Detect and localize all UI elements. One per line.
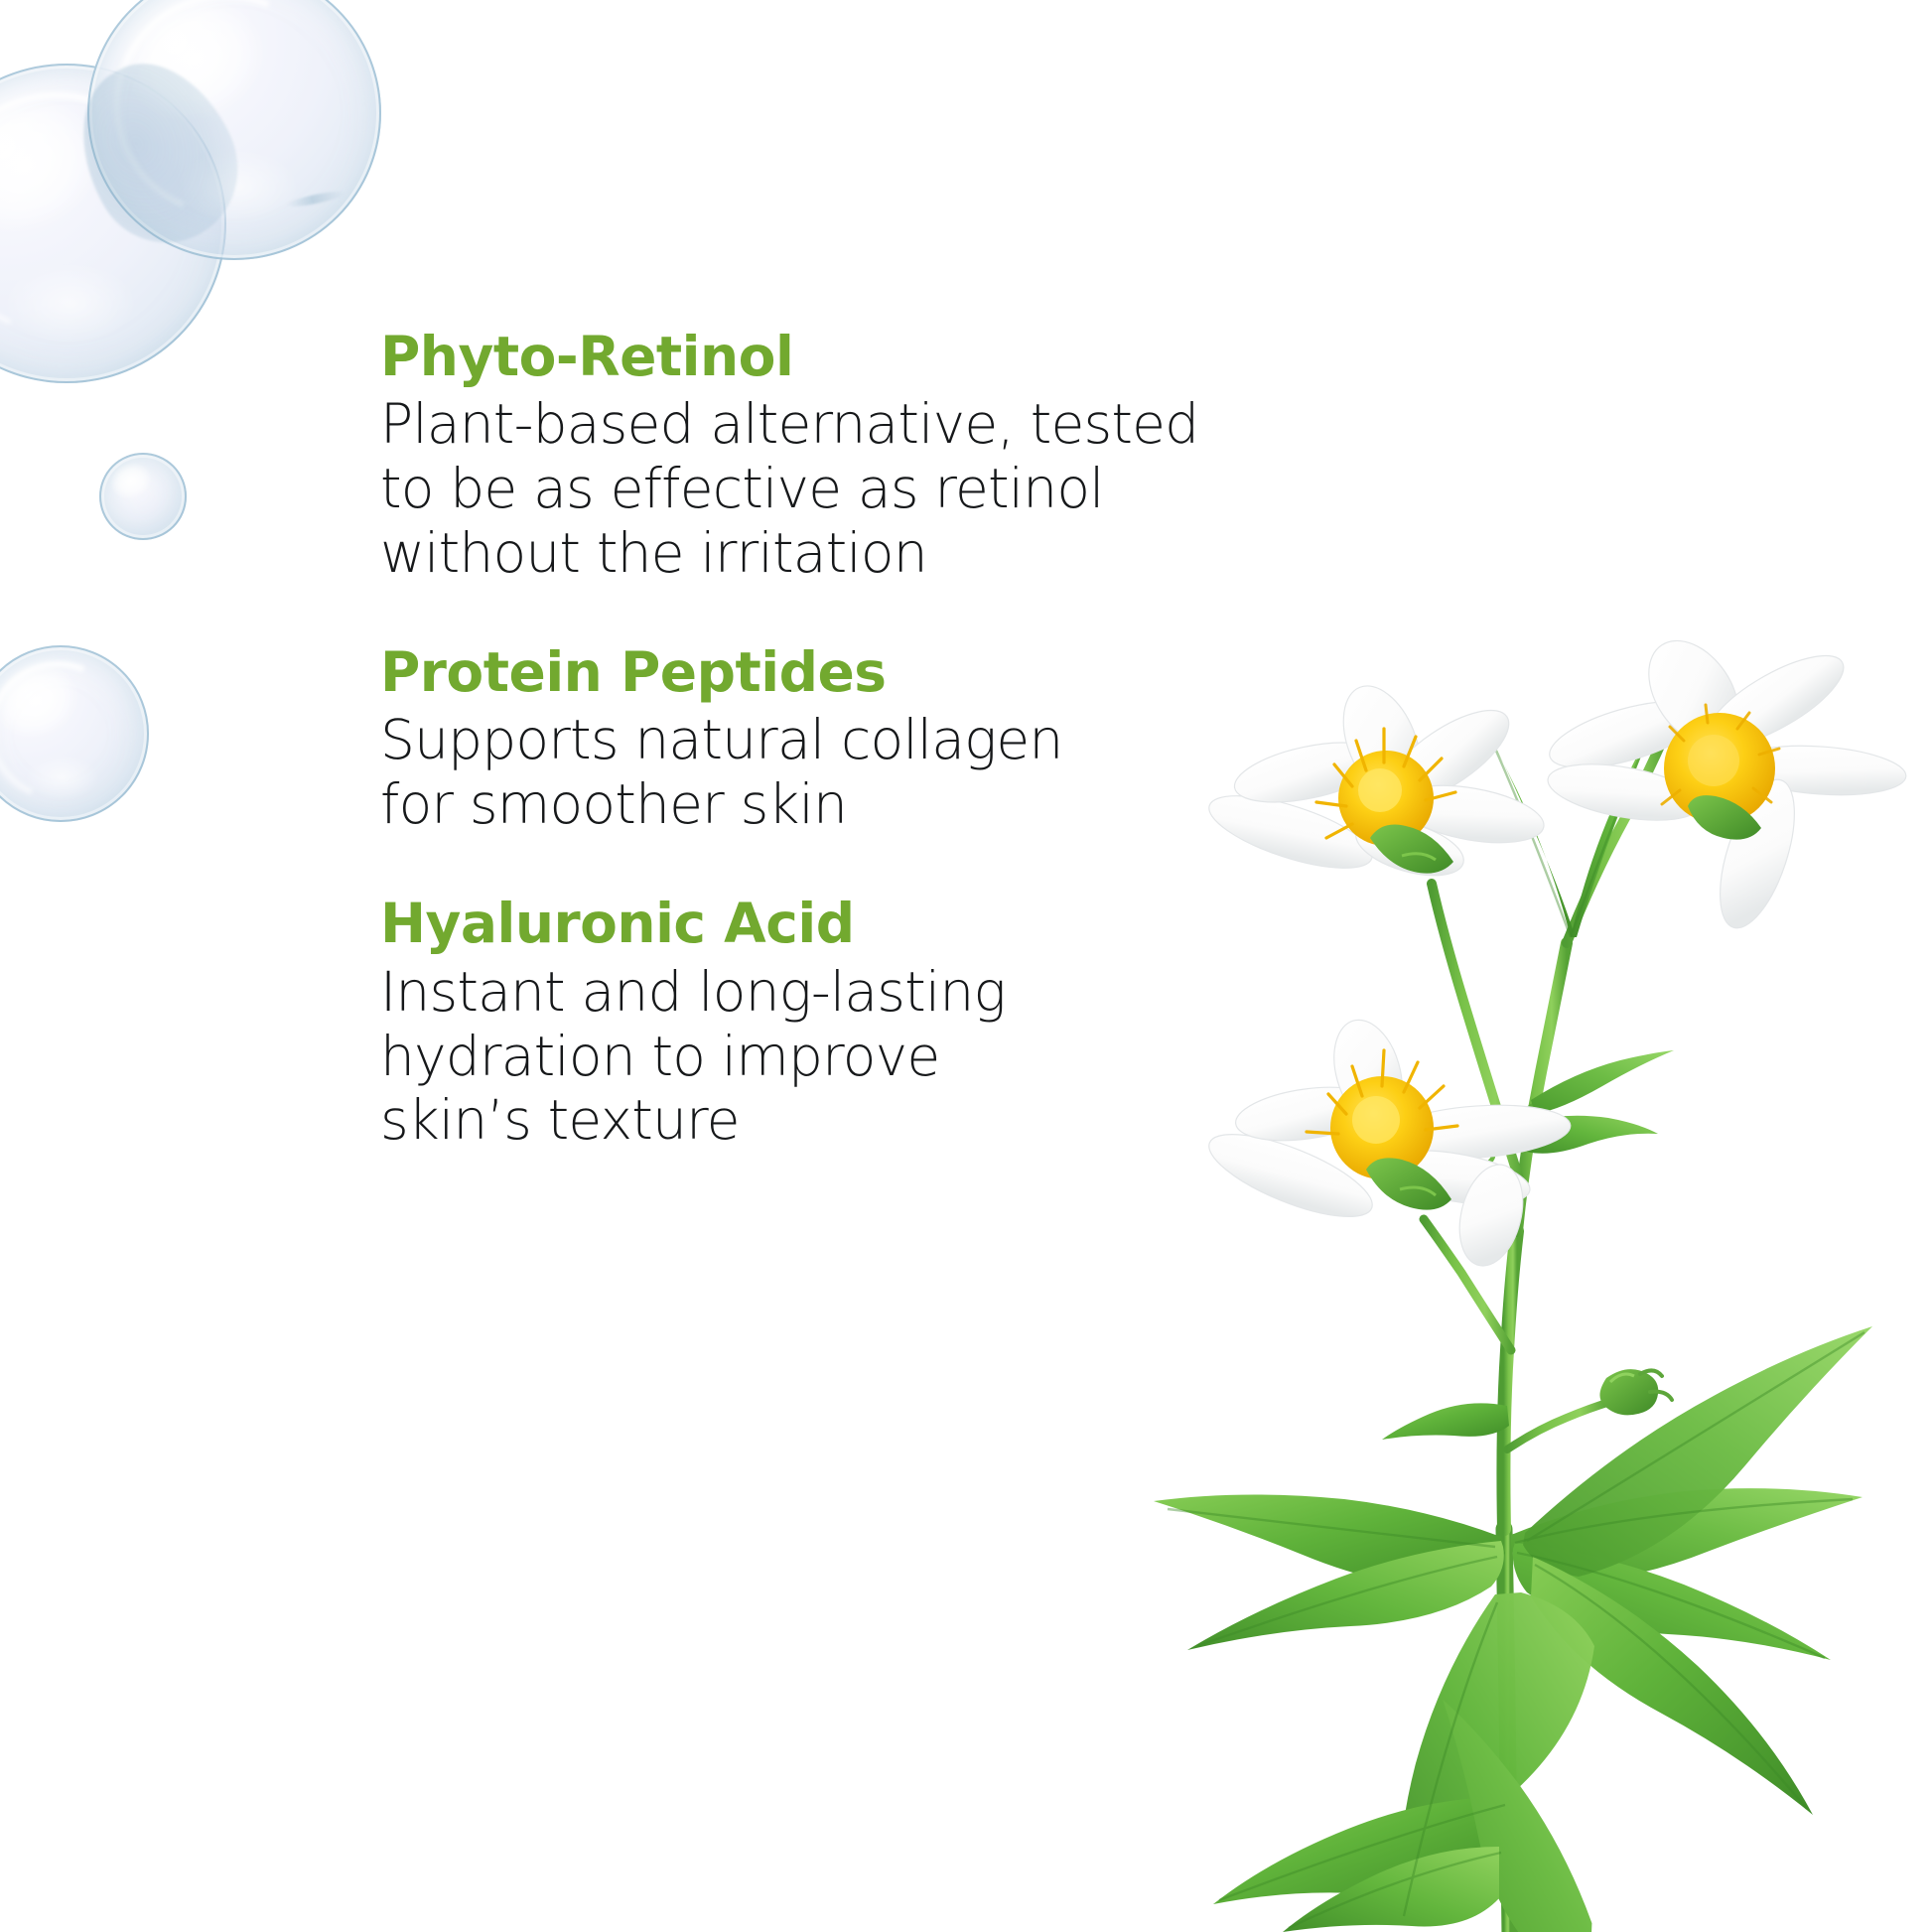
bubble-skin — [0, 645, 149, 822]
bubble-skin — [87, 0, 381, 260]
bubble-highlight — [108, 0, 285, 143]
flower-center — [1664, 713, 1775, 824]
benefit-description: Supports natural collagen for smoother s… — [380, 708, 1304, 837]
plant-stems — [1424, 733, 1666, 1932]
bubble-lower-glow — [3, 262, 137, 345]
bubble-lower-glow — [176, 149, 299, 225]
flower-center — [1330, 1076, 1434, 1179]
bubble-lower-glow — [25, 755, 99, 800]
flower-upper-right — [1543, 624, 1908, 937]
benefit-title: Phyto-Retinol — [380, 328, 1304, 386]
plant-leaves-upper — [1382, 713, 1674, 1440]
benefit-item-hyaluronic-acid: Hyaluronic Acid Instant and long-lasting… — [380, 895, 1304, 1153]
bubble-medium-left — [0, 645, 149, 822]
flower-stamens — [1662, 705, 1779, 828]
bubble-skin — [0, 64, 226, 383]
infographic-canvas: Phyto-Retinol Plant-based alternative, t… — [0, 0, 1932, 1932]
benefit-title: Protein Peptides — [380, 643, 1304, 702]
bubble-highlight — [0, 76, 121, 256]
bubble-wisp — [286, 189, 346, 209]
bubble-rim — [0, 645, 149, 822]
flower-center — [1338, 751, 1434, 846]
bubble-rim — [0, 64, 226, 383]
plant-leaves-bottom — [1213, 1700, 1622, 1932]
benefit-description: Plant-based alternative, tested to be as… — [380, 392, 1304, 586]
flower-stamens — [1316, 729, 1455, 838]
bubble-highlight-arc — [0, 640, 148, 821]
bubble-large-top — [87, 0, 381, 260]
bubble-overlap-lens — [51, 38, 264, 267]
benefit-item-protein-peptides: Protein Peptides Supports natural collag… — [380, 643, 1304, 837]
bubble-small — [99, 453, 187, 540]
bubble-large-left — [0, 64, 226, 383]
bubble-rim — [99, 453, 187, 540]
benefit-title: Hyaluronic Acid — [380, 895, 1304, 953]
benefit-item-phyto-retinol: Phyto-Retinol Plant-based alternative, t… — [380, 328, 1304, 586]
flower-petals — [1543, 624, 1908, 937]
plant-leaves-lower — [1154, 1326, 1872, 1924]
benefit-description: Instant and long-lasting hydration to im… — [380, 960, 1304, 1154]
bubble-highlight-arc — [0, 56, 214, 370]
bubble-rim — [87, 0, 381, 260]
benefits-list: Phyto-Retinol Plant-based alternative, t… — [380, 328, 1304, 1153]
flower-bud — [1599, 1369, 1672, 1415]
bubble-skin — [99, 453, 187, 540]
bubble-highlight — [105, 456, 158, 504]
bubble-highlight — [0, 652, 90, 752]
flower-stamens — [1307, 1050, 1457, 1134]
bubble-highlight-arc — [80, 0, 371, 250]
